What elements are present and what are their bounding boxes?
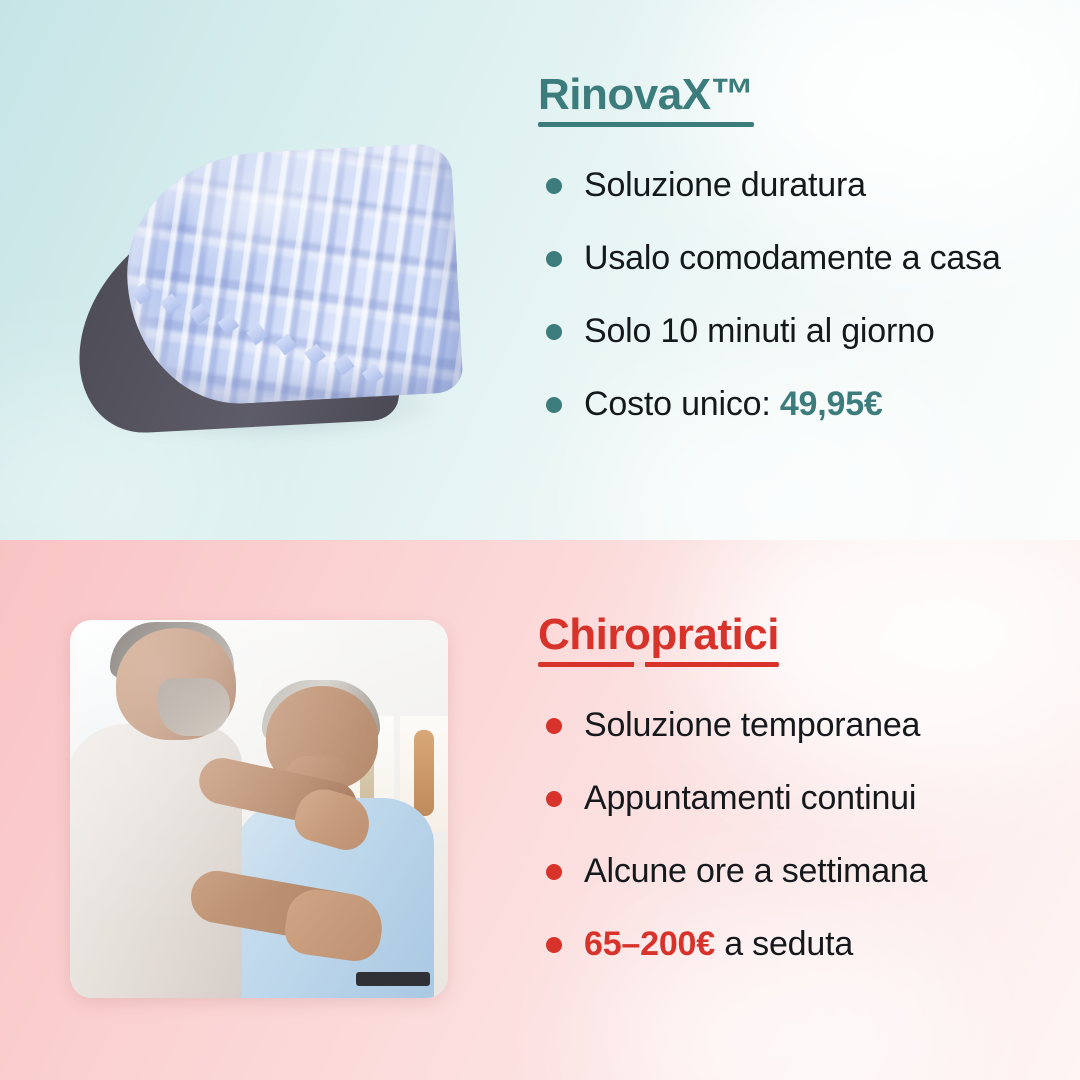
rinovax-text-column: RinovaX™ Soluzione duratura Usalo comoda… xyxy=(538,72,1068,424)
heading-rinovax: RinovaX™ xyxy=(538,72,754,119)
product-body xyxy=(69,136,467,442)
list-item: Solo 10 minuti al giorno xyxy=(538,311,1068,351)
list-item-label: Usalo comodamente a casa xyxy=(584,239,1001,277)
list-item-label: Soluzione temporanea xyxy=(584,706,920,744)
bullet-dot-icon xyxy=(546,178,562,194)
price-label-suffix: a seduta xyxy=(715,925,853,963)
bullet-dot-icon xyxy=(546,324,562,340)
price-value: 65–200€ xyxy=(584,925,715,963)
bullet-dot-icon xyxy=(546,397,562,413)
price-label-prefix: Costo unico: xyxy=(584,385,780,423)
list-item-label: Appuntamenti continui xyxy=(584,779,916,817)
bullet-dot-icon xyxy=(546,251,562,267)
list-item-label: Solo 10 minuti al giorno xyxy=(584,312,935,350)
list-item: Soluzione temporanea xyxy=(538,705,1068,745)
price-value: 49,95€ xyxy=(780,385,883,423)
list-item-label: Soluzione duratura xyxy=(584,166,866,204)
heading-underline xyxy=(538,122,754,127)
photo-practitioner-beard xyxy=(158,678,230,736)
heading-underline xyxy=(538,662,779,667)
list-item-price: Costo unico: 49,95€ xyxy=(538,384,1068,424)
rinovax-benefit-list: Soluzione duratura Usalo comodamente a c… xyxy=(538,165,1068,424)
panel-chiropratici: Chiropratici Soluzione temporanea Appunt… xyxy=(0,540,1080,1080)
list-item: Soluzione duratura xyxy=(538,165,1068,205)
chiropratici-drawback-list: Soluzione temporanea Appuntamenti contin… xyxy=(538,705,1068,964)
product-image-back-stretcher xyxy=(58,128,478,458)
list-item: Alcune ore a settimana xyxy=(538,851,1068,891)
heading-chiropratici-label: Chiropratici xyxy=(538,610,779,659)
bullet-dot-icon xyxy=(546,791,562,807)
comparison-infographic: RinovaX™ Soluzione duratura Usalo comoda… xyxy=(0,0,1080,1080)
list-item-price: 65–200€ a seduta xyxy=(538,924,1068,964)
photo-patient-belt xyxy=(356,972,430,986)
list-item: Usalo comodamente a casa xyxy=(538,238,1068,278)
panel-rinovax: RinovaX™ Soluzione duratura Usalo comoda… xyxy=(0,0,1080,540)
heading-chiropratici: Chiropratici xyxy=(538,612,779,659)
heading-rinovax-label: RinovaX™ xyxy=(538,70,754,119)
chiropratici-text-column: Chiropratici Soluzione temporanea Appunt… xyxy=(538,612,1068,964)
bullet-dot-icon xyxy=(546,937,562,953)
bullet-dot-icon xyxy=(546,864,562,880)
photo-chiropractor-session xyxy=(70,620,448,998)
bullet-dot-icon xyxy=(546,718,562,734)
list-item-label: Alcune ore a settimana xyxy=(584,852,927,890)
list-item: Appuntamenti continui xyxy=(538,778,1068,818)
